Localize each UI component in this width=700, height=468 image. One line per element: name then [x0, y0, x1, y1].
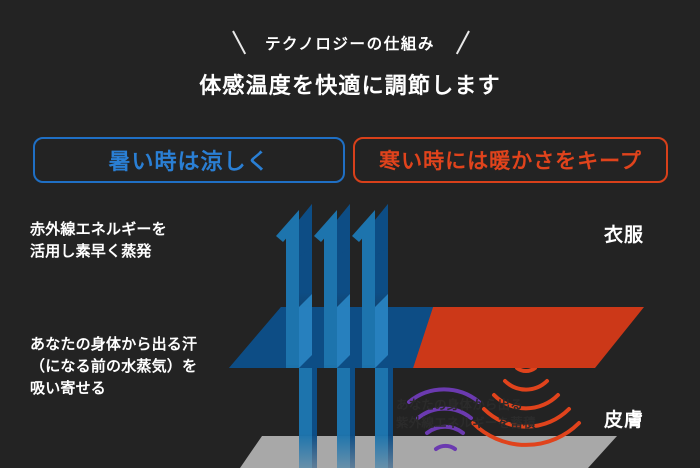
- note-uv-on-skin: あなたの身体から出る 紫外線エネルギーを蓄積: [396, 396, 536, 432]
- label-clothing: 衣服: [604, 220, 644, 247]
- eyebrow-text: テクノロジーの仕組み: [265, 32, 435, 54]
- pill-cool: 暑い時は涼しく: [33, 137, 345, 183]
- pill-warm: 寒い時には暖かさをキープ: [353, 137, 668, 183]
- note-infrared: 赤外線エネルギーを 活用し素早く蒸発: [30, 219, 167, 263]
- page-title: 体感温度を快適に調節します: [0, 68, 700, 100]
- pill-cool-label: 暑い時は涼しく: [108, 144, 269, 176]
- infographic-canvas: テクノロジーの仕組み 体感温度を快適に調節します 暑い時は涼しく 寒い時には暖か…: [0, 0, 700, 468]
- pill-warm-label: 寒い時には暖かさをキープ: [379, 145, 642, 175]
- note-sweat: あなたの身体から出る汗 （になる前の水蒸気）を 吸い寄せる: [30, 334, 197, 399]
- eyebrow-row: テクノロジーの仕組み: [0, 30, 700, 56]
- diagonal-slash-right-icon: [455, 31, 481, 55]
- diagonal-slash-left-icon: [219, 31, 245, 55]
- label-skin: 皮膚: [604, 405, 644, 432]
- vapor-arrow-stems-lower: [299, 365, 393, 468]
